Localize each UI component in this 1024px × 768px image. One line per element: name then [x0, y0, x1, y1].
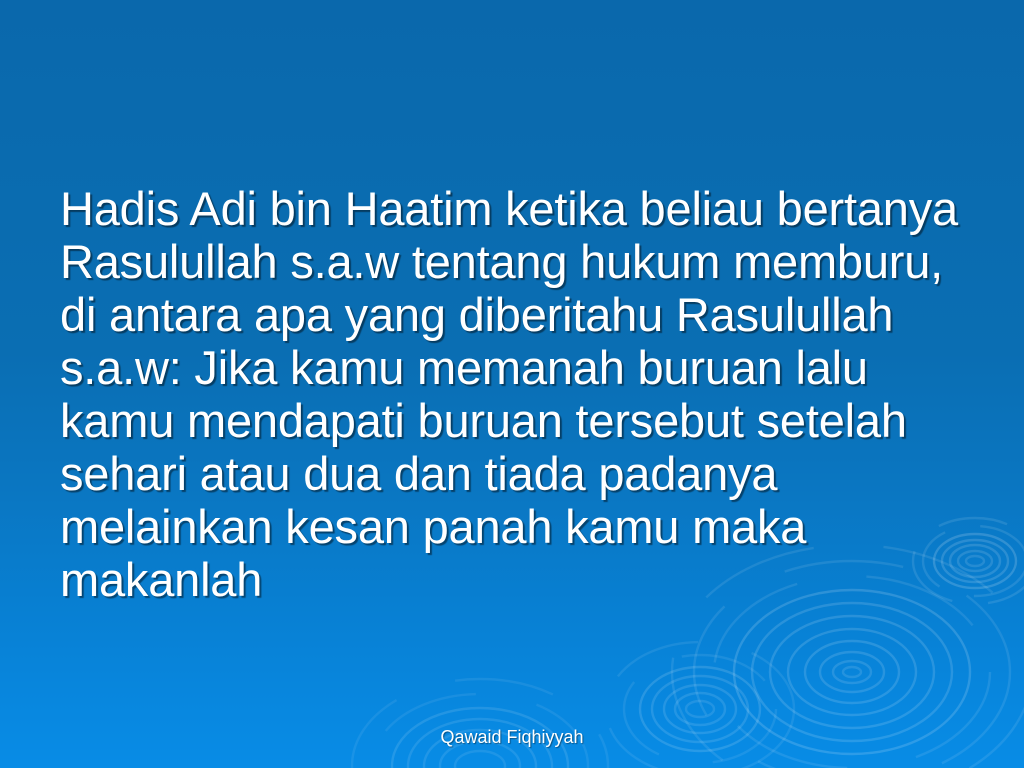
slide-footer-label: Qawaid Fiqhiyyah: [0, 726, 1024, 748]
slide-canvas: Hadis Adi bin Haatim ketika beliau berta…: [0, 0, 1024, 768]
ripple-medium-bottom-center-outer: [606, 642, 794, 768]
ripple-small-bottom-center-outer: [352, 679, 608, 768]
slide-body-text: Hadis Adi bin Haatim ketika beliau berta…: [60, 182, 990, 606]
